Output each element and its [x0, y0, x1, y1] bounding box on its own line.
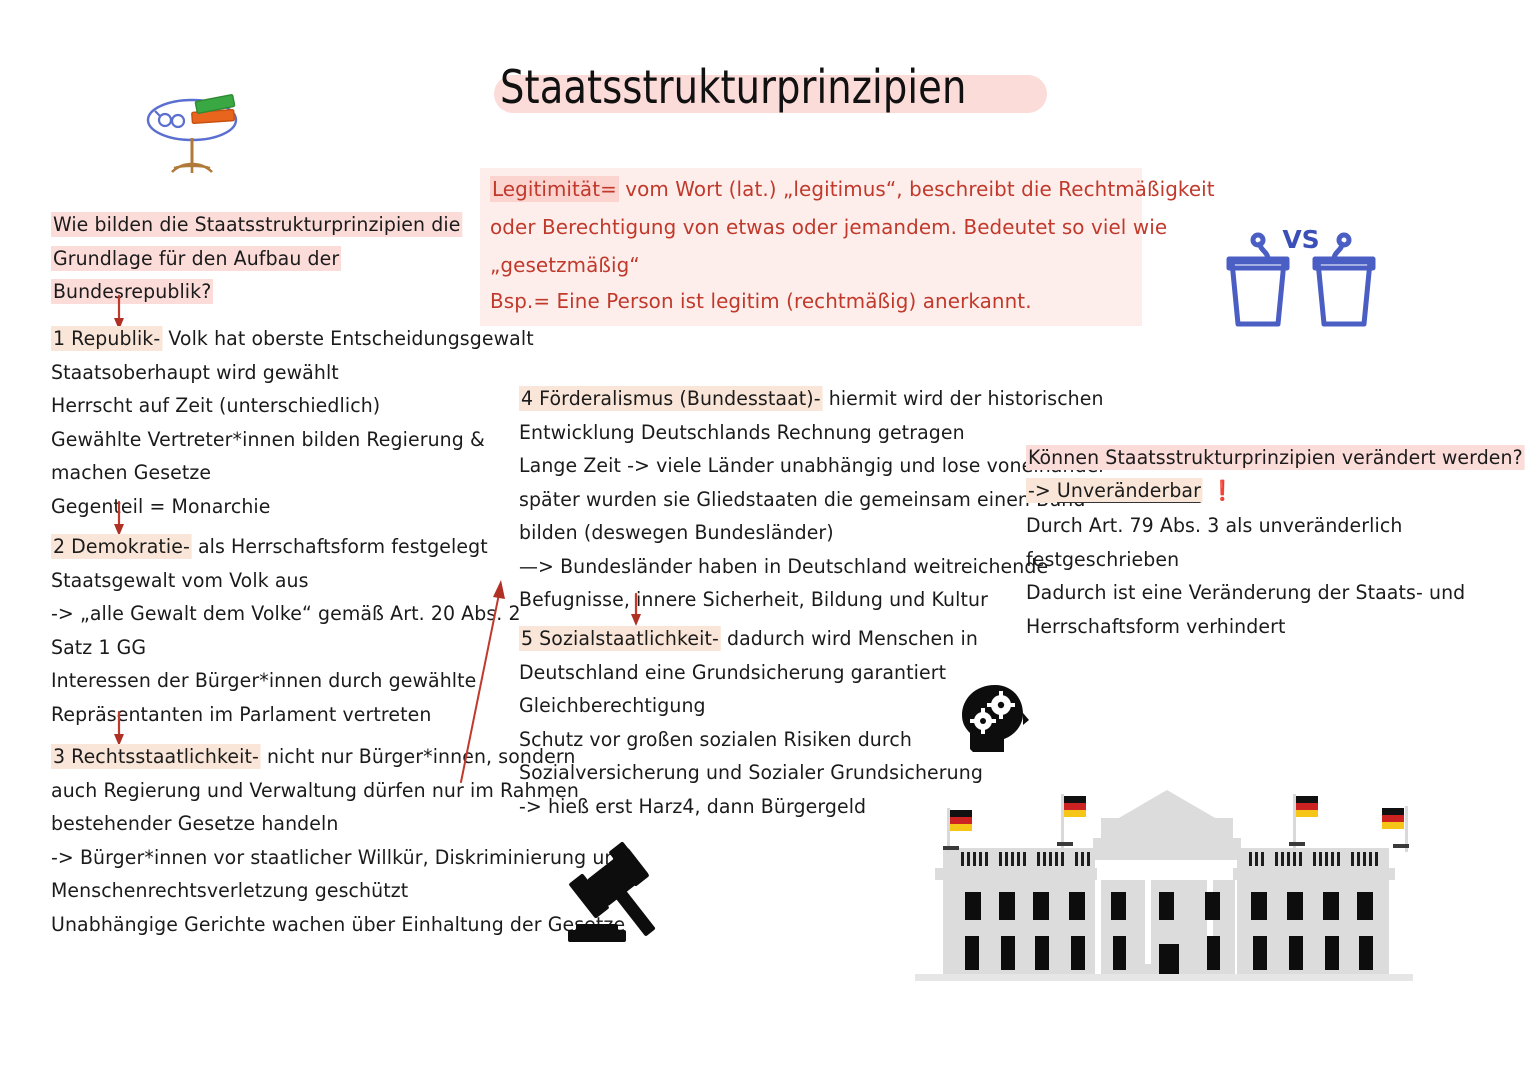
rechtsstaatlichkeit-heading: 3 Rechtsstaatlichkeit- [51, 744, 261, 769]
sozialstaatlichkeit-heading-rest: dadurch wird Menschen in [721, 627, 978, 650]
veraenderbarkeit-question: Können Staatsstrukturprinzipien veränder… [1026, 445, 1525, 470]
left-question-line-1-text: Wie bilden die Staatsstrukturprinzipien … [51, 212, 462, 237]
foederalismus-line: später wurden sie Gliedstaaten die gemei… [519, 483, 985, 517]
legitimitaet-line-1: Legitimität= vom Wort (lat.) „legitimus“… [490, 177, 1215, 201]
legitimitaet-line-2: oder Berechtigung von etwas oder jemande… [490, 215, 1167, 239]
veraenderbarkeit-exclamation: ❗ [1211, 479, 1235, 502]
veraenderbarkeit-line: Dadurch ist eine Veränderung der Staats-… [1026, 576, 1463, 610]
veraenderbarkeit-line: Durch Art. 79 Abs. 3 als unveränderlich [1026, 509, 1463, 543]
sozialstaatlichkeit-line: Schutz vor großen sozialen Risiken durch [519, 723, 926, 757]
legitimitaet-line-1-rest: vom Wort (lat.) „legitimus“, beschreibt … [619, 177, 1215, 201]
demokratie-line: Staatsgewalt vom Volk aus [51, 564, 468, 598]
vs-label: VS [1282, 225, 1319, 254]
veraenderbarkeit-answer-group: -> Unveränderbar [1026, 478, 1203, 503]
legitimitaet-example-line: Bsp.= Eine Person ist legitim (rechtmäßi… [490, 289, 1032, 313]
left-question-line-1: Wie bilden die Staatsstrukturprinzipien … [51, 208, 458, 242]
veraenderbarkeit-question-line: Können Staatsstrukturprinzipien veränder… [1026, 443, 1463, 473]
rechtsstaatlichkeit-block: 3 Rechtsstaatlichkeit- nicht nur Bürger*… [51, 740, 521, 941]
demokratie-line: Satz 1 GG [51, 631, 468, 665]
legitimitaet-definition-box: Legitimität= vom Wort (lat.) „legitimus“… [480, 168, 1142, 326]
foederalismus-line: Lange Zeit -> viele Länder unabhängig un… [519, 449, 985, 483]
foederalismus-heading-line: 4 Förderalismus (Bundesstaat)- hiermit w… [519, 382, 985, 416]
republik-line: Gewählte Vertreter*innen bilden Regierun… [51, 423, 468, 457]
legitimitaet-line-3: „gesetzmäßig“ [490, 253, 640, 277]
page-title-text: Staatsstrukturprinzipien [500, 57, 966, 117]
veraenderbarkeit-block: Können Staatsstrukturprinzipien veränder… [1026, 443, 1476, 643]
debate-podiums-vs-icon: VS [1222, 218, 1380, 330]
republik-line: machen Gesetze [51, 456, 468, 490]
republik-heading: 1 Republik- [51, 326, 162, 351]
republik-block: 1 Republik- Volk hat oberste Entscheidun… [51, 322, 481, 523]
republik-heading-rest: Volk hat oberste Entscheidungsgewalt [162, 327, 534, 350]
books-on-table-icon [140, 78, 244, 178]
head-with-gears-icon [957, 683, 1033, 753]
left-question-line-2: Grundlage für den Aufbau der [51, 242, 458, 276]
foederalismus-heading-rest: hiermit wird der historischen [823, 387, 1104, 410]
left-question-line-3-text: Bundesrepublik? [51, 279, 213, 304]
arrow-diagonal-to-foederalismus [455, 572, 525, 787]
veraenderbarkeit-line: Herrschaftsform verhindert [1026, 610, 1463, 644]
foederalismus-line: —> Bundesländer haben in Deutschland wei… [519, 550, 985, 584]
parliament-building-icon [905, 768, 1420, 981]
left-question-line-2-text: Grundlage für den Aufbau der [51, 246, 341, 271]
demokratie-heading-line: 2 Demokratie- als Herrschaftsform festge… [51, 530, 468, 564]
demokratie-block: 2 Demokratie- als Herrschaftsform festge… [51, 530, 481, 731]
sozialstaatlichkeit-line: Deutschland eine Grundsicherung garantie… [519, 656, 926, 690]
foederalismus-block: 4 Förderalismus (Bundesstaat)- hiermit w… [519, 382, 999, 617]
legitimitaet-keyword: Legitimität= [490, 176, 619, 202]
sozialstaatlichkeit-line: Gleichberechtigung [519, 689, 926, 723]
rechtsstaatlichkeit-line: Unabhängige Gerichte wachen über Einhalt… [51, 908, 507, 942]
sozialstaatlichkeit-heading-line: 5 Sozialstaatlichkeit- dadurch wird Mens… [519, 622, 926, 656]
demokratie-line: -> „alle Gewalt dem Volke“ gemäß Art. 20… [51, 597, 468, 631]
gavel-icon [562, 832, 698, 944]
veraenderbarkeit-answer-line: -> Unveränderbar❗ [1026, 473, 1463, 509]
foederalismus-line: Befugnisse, innere Sicherheit, Bildung u… [519, 583, 985, 617]
veraenderbarkeit-line: festgeschrieben [1026, 543, 1463, 577]
foederalismus-line: Entwicklung Deutschlands Rechnung getrag… [519, 416, 985, 450]
demokratie-line: Interessen der Bürger*innen durch gewähl… [51, 664, 468, 698]
rechtsstaatlichkeit-line: Menschenrechtsverletzung geschützt [51, 874, 507, 908]
republik-line: Staatsoberhaupt wird gewählt [51, 356, 468, 390]
republik-line: Herrscht auf Zeit (unterschiedlich) [51, 389, 468, 423]
rechtsstaatlichkeit-line: -> Bürger*innen vor staatlicher Willkür,… [51, 841, 507, 875]
sozialstaatlichkeit-heading: 5 Sozialstaatlichkeit- [519, 626, 721, 651]
demokratie-heading-rest: als Herrschaftsform festgelegt [192, 535, 488, 558]
sozialstaatlichkeit-line: Sozialversicherung und Sozialer Grundsic… [519, 756, 926, 790]
page-title: Staatsstrukturprinzipien [494, 57, 1054, 123]
foederalismus-line: bilden (deswegen Bundesländer) [519, 516, 985, 550]
rechtsstaatlichkeit-line: bestehender Gesetze handeln [51, 807, 507, 841]
rechtsstaatlichkeit-line: auch Regierung und Verwaltung dürfen nur… [51, 774, 507, 808]
republik-heading-line: 1 Republik- Volk hat oberste Entscheidun… [51, 322, 468, 356]
notes-page: Staatsstrukturprinzipien Legitimität= vo… [0, 0, 1527, 1080]
veraenderbarkeit-answer: Unveränderbar [1057, 479, 1201, 503]
foederalismus-heading: 4 Förderalismus (Bundesstaat)- [519, 386, 823, 411]
rechtsstaatlichkeit-heading-line: 3 Rechtsstaatlichkeit- nicht nur Bürger*… [51, 740, 507, 774]
sozialstaatlichkeit-block: 5 Sozialstaatlichkeit- dadurch wird Mens… [519, 622, 939, 823]
sozialstaatlichkeit-line: -> hieß erst Harz4, dann Bürgergeld [519, 790, 926, 824]
veraenderbarkeit-answer-arrow: -> [1028, 479, 1057, 502]
demokratie-heading: 2 Demokratie- [51, 534, 192, 559]
